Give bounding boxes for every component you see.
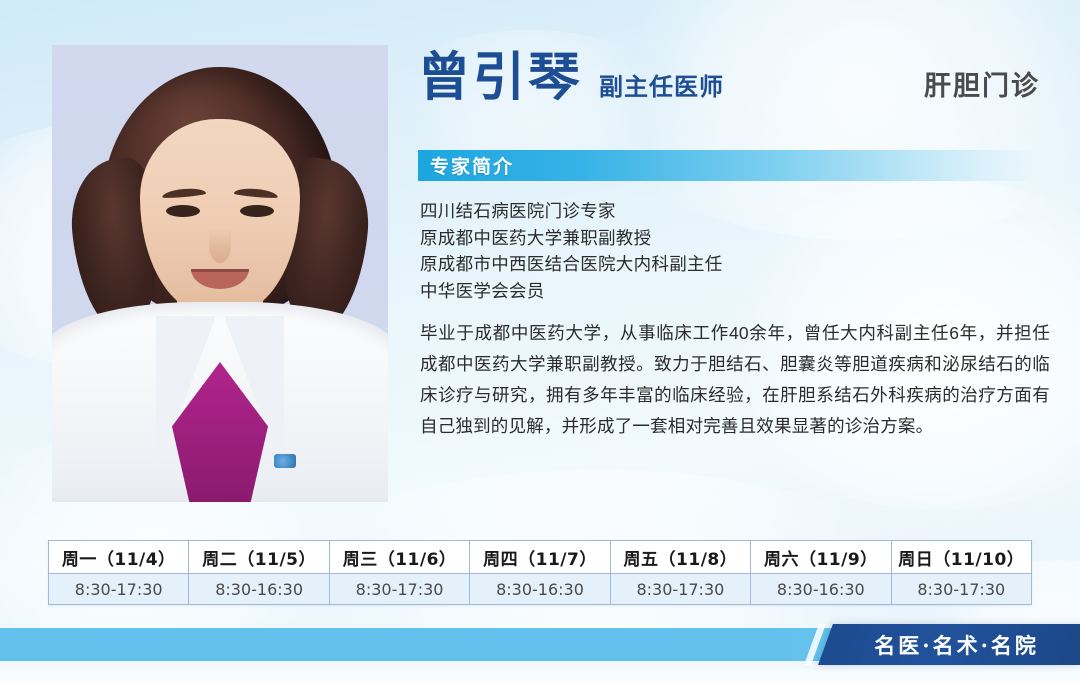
portrait-face: [140, 119, 300, 315]
schedule-day-header: 周日（11/10）: [891, 541, 1031, 574]
schedule-time-row: 8:30-17:308:30-16:308:30-17:308:30-16:30…: [49, 574, 1032, 605]
schedule-day-header: 周四（11/7）: [470, 541, 610, 574]
schedule-time-cell: 8:30-17:30: [891, 574, 1031, 605]
schedule-day-header: 周五（11/8）: [610, 541, 750, 574]
section-title: 专家简介: [418, 152, 514, 179]
doctor-portrait-photo: [52, 45, 388, 502]
doctor-biography: 毕业于成都中医药大学，从事临床工作40余年，曾任大内科副主任6年，并担任成都中医…: [420, 318, 1050, 442]
doctor-name: 曾引琴: [418, 52, 583, 104]
footer-slogan-ribbon: 名医·名术·名院: [818, 624, 1080, 665]
doctor-rank-title: 副主任医师: [599, 67, 724, 102]
portrait-nose: [209, 229, 231, 263]
doctor-credentials-list: 四川结石病医院门诊专家原成都中医药大学兼职副教授原成都市中西医结合医院大内科副主…: [420, 198, 1045, 304]
credential-line: 原成都市中西医结合医院大内科副主任: [420, 251, 1045, 278]
schedule-time-cell: 8:30-16:30: [189, 574, 329, 605]
credential-line: 四川结石病医院门诊专家: [420, 198, 1045, 225]
portrait-mouth: [191, 269, 249, 289]
doctor-header-row: 曾引琴 副主任医师 肝胆门诊: [418, 52, 1058, 104]
clinic-schedule-table: 周一（11/4）周二（11/5）周三（11/6）周四（11/7）周五（11/8）…: [48, 540, 1032, 605]
portrait-coat-badge: [274, 454, 296, 468]
credential-line: 原成都中医药大学兼职副教授: [420, 225, 1045, 252]
schedule-header-row: 周一（11/4）周二（11/5）周三（11/6）周四（11/7）周五（11/8）…: [49, 541, 1032, 574]
schedule-day-header: 周一（11/4）: [49, 541, 189, 574]
portrait-eyebrow-left: [162, 187, 207, 199]
section-header-bar: 专家简介: [418, 150, 1040, 181]
schedule-day-header: 周六（11/9）: [751, 541, 891, 574]
schedule-time-cell: 8:30-17:30: [610, 574, 750, 605]
portrait-eye-left: [166, 205, 200, 217]
schedule-time-cell: 8:30-16:30: [751, 574, 891, 605]
schedule-day-header: 周三（11/6）: [329, 541, 469, 574]
schedule-time-cell: 8:30-17:30: [329, 574, 469, 605]
schedule-day-header: 周二（11/5）: [189, 541, 329, 574]
doctor-department: 肝胆门诊: [924, 64, 1058, 103]
schedule-time-cell: 8:30-16:30: [470, 574, 610, 605]
schedule-time-cell: 8:30-17:30: [49, 574, 189, 605]
footer-slogan-text: 名医·名术·名院: [874, 630, 1039, 660]
portrait-eye-right: [240, 205, 274, 217]
portrait-eyebrow-right: [234, 187, 279, 199]
credential-line: 中华医学会会员: [420, 278, 1045, 305]
